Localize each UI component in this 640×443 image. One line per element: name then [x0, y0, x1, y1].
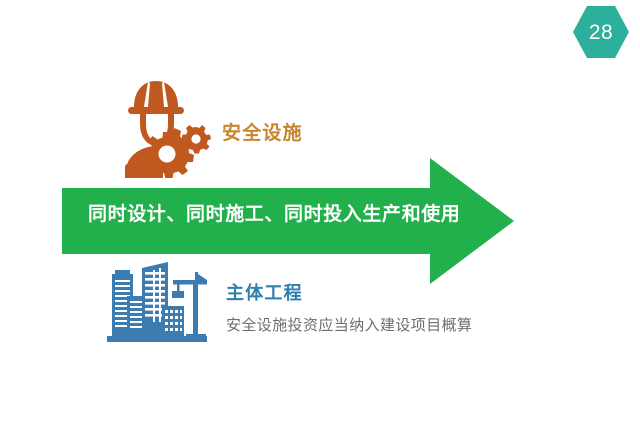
- main-project-title: 主体工程: [226, 284, 303, 302]
- buildings-with-crane-icon: [102, 258, 212, 348]
- main-project-subtitle: 安全设施投资应当纳入建设项目概算: [226, 318, 472, 333]
- slide-canvas: 28: [0, 0, 640, 443]
- page-number-badge: 28: [573, 6, 629, 58]
- safety-facility-title: 安全设施: [222, 124, 303, 143]
- arrow-label-text: 同时设计、同时施工、同时投入生产和使用: [88, 205, 460, 224]
- page-number-text: 28: [573, 6, 629, 58]
